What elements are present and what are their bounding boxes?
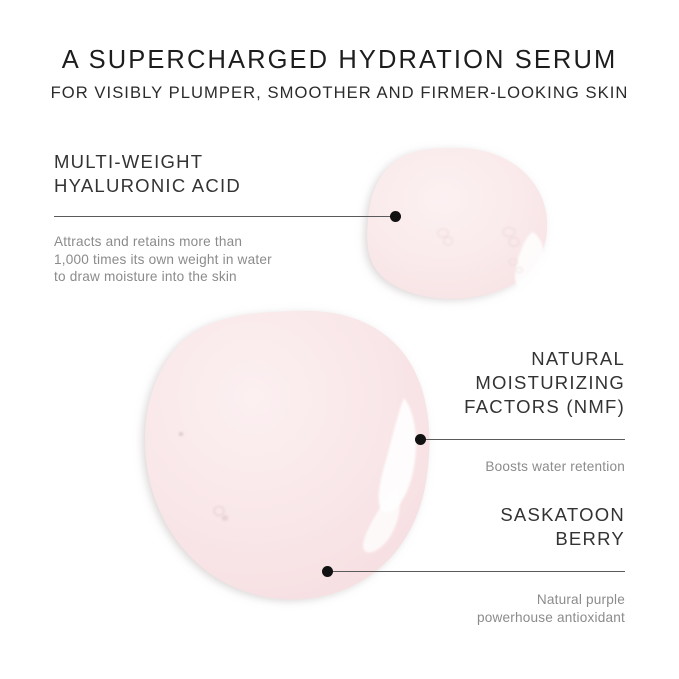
callout-hyaluronic-acid-heading: MULTI-WEIGHT HYALURONIC ACID xyxy=(54,150,404,198)
product-ingredient-infographic: A SUPERCHARGED HYDRATION SERUM FOR VISIB… xyxy=(0,0,679,679)
callout-nmf-heading: NATURAL MOISTURIZING FACTORS (NMF) xyxy=(295,347,625,419)
leader-line xyxy=(327,571,625,572)
callout-nmf-leader xyxy=(295,428,625,450)
callout-hyaluronic-acid-body: Attracts and retains more than 1,000 tim… xyxy=(54,233,404,286)
leader-line xyxy=(54,216,396,217)
leader-dot-icon xyxy=(322,566,333,577)
callout-saskatoon-berry-body: Natural purple powerhouse antioxidant xyxy=(295,591,625,626)
leader-dot-icon xyxy=(390,211,401,222)
leader-dot-icon xyxy=(415,434,426,445)
leader-line xyxy=(420,439,625,440)
callout-nmf: NATURAL MOISTURIZING FACTORS (NMF) Boost… xyxy=(295,347,625,476)
callout-nmf-body: Boosts water retention xyxy=(295,458,625,476)
callout-hyaluronic-acid-leader xyxy=(54,205,404,227)
callout-saskatoon-berry: SASKATOON BERRY Natural purple powerhous… xyxy=(295,503,625,626)
callout-hyaluronic-acid: MULTI-WEIGHT HYALURONIC ACID Attracts an… xyxy=(54,150,404,286)
callout-saskatoon-berry-leader xyxy=(295,560,625,582)
callout-saskatoon-berry-heading: SASKATOON BERRY xyxy=(295,503,625,551)
